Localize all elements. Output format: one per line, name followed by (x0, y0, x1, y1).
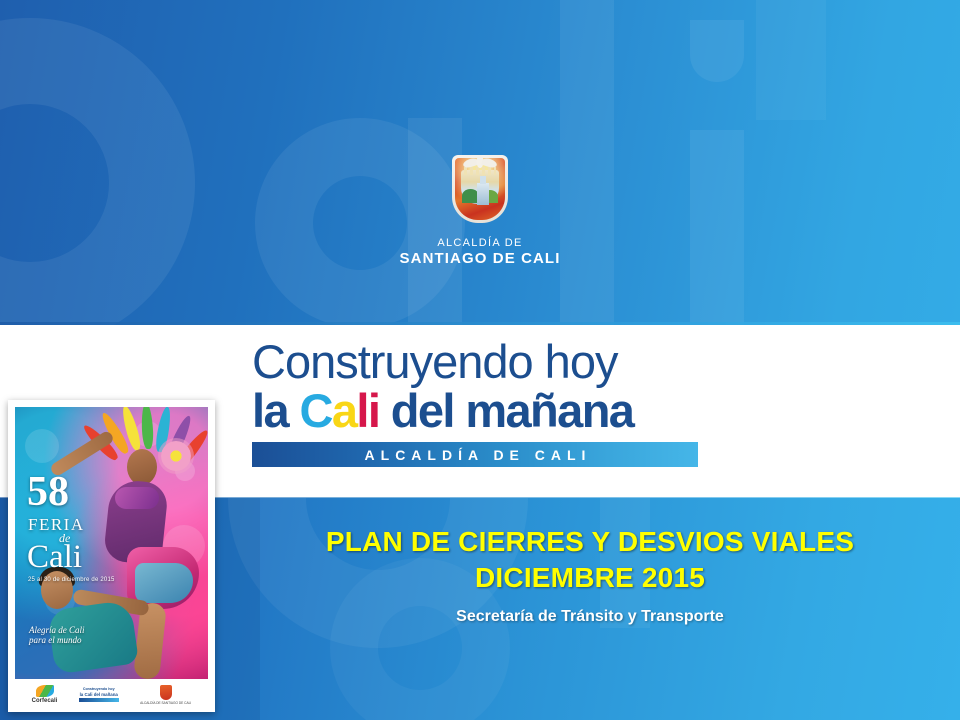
brand-la: la (252, 384, 299, 437)
sponsor-bar (79, 698, 119, 702)
poster-artwork: 58 FERIA de Cali 25 al 30 de diciembre d… (15, 407, 208, 679)
corfecali-bird-icon (36, 685, 54, 697)
coat-of-arms-icon (452, 155, 508, 223)
title-subtitle: Secretaría de Tránsito y Transporte (220, 608, 960, 626)
title-slide: ALCALDÍA DE SANTIAGO DE CALI Construyend… (0, 0, 960, 720)
slide-title-block: PLAN DE CIERRES Y DESVIOS VIALES DICIEMB… (220, 524, 960, 626)
poster-edition-number: 58 (27, 473, 69, 511)
emblem-line-2: SANTIAGO DE CALI (0, 250, 960, 267)
brand-cali-a: a (332, 384, 357, 437)
condor-icon (463, 153, 497, 169)
emblem-line-1: ALCALDÍA DE (0, 237, 960, 249)
poster-dates: 25 al 30 de diciembre de 2015 (28, 577, 115, 583)
alcaldia-emblem: ALCALDÍA DE SANTIAGO DE CALI (0, 155, 960, 267)
brand-line-2: la Cali del mañana (252, 386, 702, 436)
construyendo-hoy-logo: Construyendo hoy la Cali del mañana ALCA… (252, 336, 702, 467)
brand-bar-label: ALCALDÍA DE CALI (252, 442, 698, 467)
watermark-letter-i-dot (690, 20, 744, 82)
poster-feria-word: FERIA (28, 515, 85, 535)
sponsor-shield-icon (160, 685, 172, 700)
brand-cali-i: i (368, 384, 379, 437)
poster-slogan: Alegría de Cali para el mundo (29, 625, 95, 645)
brand-del-manana: del mañana (379, 384, 633, 437)
feria-de-cali-poster: 58 FERIA de Cali 25 al 30 de diciembre d… (8, 400, 215, 712)
title-line-1: PLAN DE CIERRES Y DESVIOS VIALES (220, 524, 960, 560)
watermark-highlight (756, 0, 826, 120)
poster-cali-word: Cali (27, 541, 82, 574)
poster-sponsor-row: Corfecali Construyendo hoy la Cali del m… (15, 679, 208, 710)
sponsor-alcaldia: ALCALDÍA DE SANTIAGO DE CALI (140, 685, 191, 705)
sponsor-construyendo-hoy: Construyendo hoy la Cali del mañana (79, 687, 119, 701)
brand-cali-c: C (299, 384, 331, 437)
brand-line-1: Construyendo hoy (252, 336, 702, 388)
flower-icon (161, 441, 191, 471)
brand-cali-l: l (356, 384, 367, 437)
sponsor-corfecali: Corfecali (32, 685, 58, 704)
title-line-2: DICIEMBRE 2015 (220, 560, 960, 596)
